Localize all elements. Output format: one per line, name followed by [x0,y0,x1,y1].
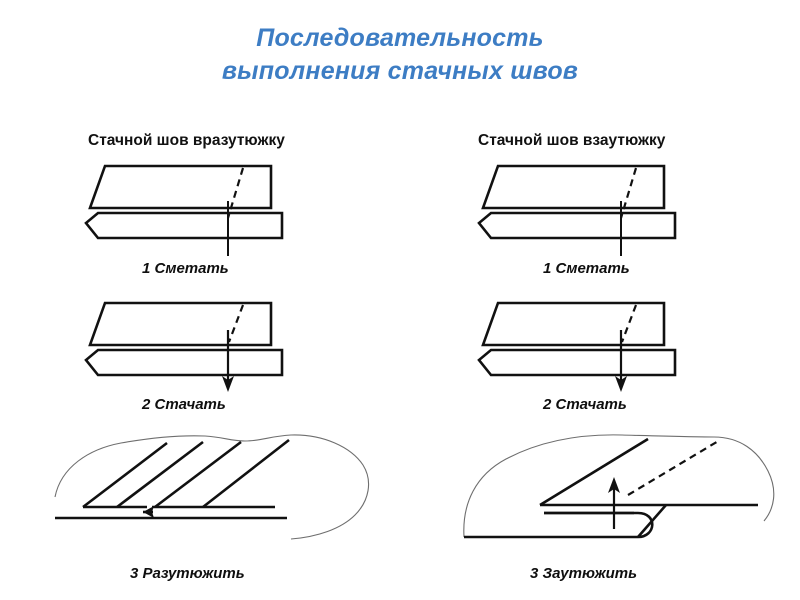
column-heading-left: Стачной шов вразутюжку [88,132,285,150]
upper-ply-shape [483,303,664,345]
folded-seam-allowance-under [544,513,652,537]
lower-ply-shape [86,213,282,238]
two-plies-stitched-icon [478,300,708,395]
two-plies-basting-icon [478,163,708,258]
figure-left-step-2 [85,300,315,395]
pressed-open-seam-icon [55,425,395,550]
upper-ply-shape [483,166,664,208]
fabric-outline [464,435,774,537]
caption-left-step-2: 2 Стачать [142,396,226,413]
caption-right-step-2: 2 Стачать [543,396,627,413]
pressed-one-side-seam-icon [452,425,797,550]
figure-right-step-2 [478,300,708,395]
page-title-line-2: выполнения стачных швов [0,55,800,88]
lower-ply-shape [479,350,675,375]
seam-fold-4 [203,440,289,507]
figure-left-step-1 [85,163,315,258]
figure-right-step-3 [452,425,797,550]
page-title: Последовательность выполнения стачных шв… [0,22,800,88]
caption-left-step-1: 1 Сметать [142,260,229,277]
page-title-line-1: Последовательность [0,22,800,55]
fold-crease-diagonal [540,439,648,505]
column-heading-right: Стачной шов взаутюжку [478,132,665,150]
seam-fold-3 [155,442,241,507]
upper-ply-shape [90,303,271,345]
fold-side-edge [638,505,666,537]
figure-left-step-3 [55,425,395,550]
stitch-dashed-line [628,440,720,495]
caption-left-step-3: 3 Разутюжить [130,565,245,582]
upper-ply-shape [90,166,271,208]
two-plies-stitched-icon [85,300,315,395]
figure-right-step-1 [478,163,708,258]
two-plies-basting-icon [85,163,315,258]
caption-right-step-1: 1 Сметать [543,260,630,277]
lower-ply-shape [86,350,282,375]
seam-fold-2 [117,442,203,507]
seam-fold-1 [83,443,167,507]
lower-ply-shape [479,213,675,238]
diagram-page: Последовательность выполнения стачных шв… [0,0,800,600]
caption-right-step-3: 3 Заутюжить [530,565,637,582]
fabric-outline [55,435,369,539]
